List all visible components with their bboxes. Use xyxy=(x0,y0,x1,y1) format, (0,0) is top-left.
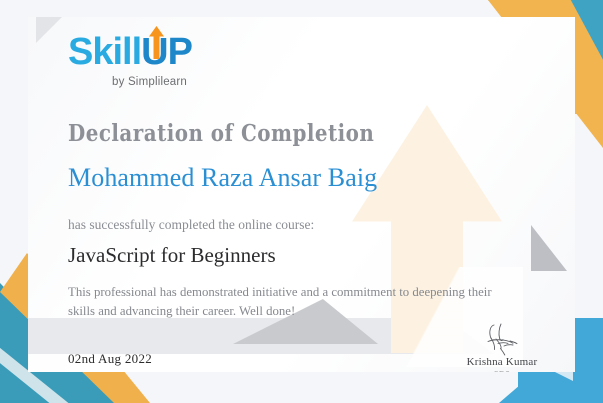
recipient-name: Mohammed Raza Ansar Baig xyxy=(68,163,377,193)
certificate-card: SkillUP by Simplilearn Declaration of Co… xyxy=(28,17,575,372)
page-title: Declaration of Completion xyxy=(68,120,374,147)
skillup-logo: SkillUP by Simplilearn xyxy=(68,33,248,88)
logo-wordmark: SkillUP xyxy=(68,33,248,71)
course-name: JavaScript for Beginners xyxy=(68,243,276,268)
logo-tagline: by Simplilearn xyxy=(112,76,248,88)
logo-word-skill: Skill xyxy=(68,31,141,73)
completion-statement: has successfully completed the online co… xyxy=(68,217,314,233)
description-paragraph: This professional has demonstrated initi… xyxy=(68,283,493,322)
handwritten-signature-icon xyxy=(474,322,530,356)
signature-block: Krishna Kumar CEO xyxy=(442,322,562,372)
signatory-title: CEO xyxy=(442,369,562,372)
certificate-content: SkillUP by Simplilearn Declaration of Co… xyxy=(28,17,575,372)
issue-date: 02nd Aug 2022 xyxy=(68,351,152,367)
signatory-name: Krishna Kumar xyxy=(442,356,562,368)
logo-word-up: UP xyxy=(141,31,192,73)
certificate-page: SkillUP by Simplilearn Declaration of Co… xyxy=(0,0,603,403)
